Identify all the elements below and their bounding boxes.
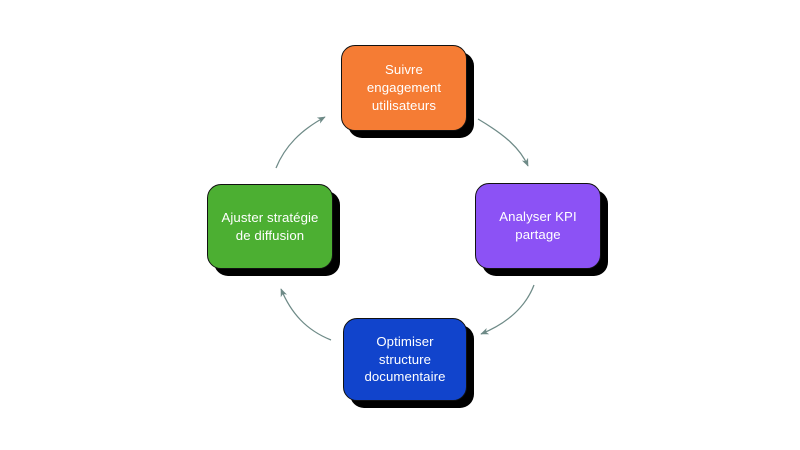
node-ajuster-strategie-de-diffusion[interactable]: Ajuster stratégie de diffusion xyxy=(207,184,333,269)
node-label: Suivre engagement utilisateurs xyxy=(367,61,441,115)
node-analyser-kpi-partage[interactable]: Analyser KPI partage xyxy=(475,183,601,269)
node-label: Analyser KPI partage xyxy=(499,208,576,244)
node-label: Ajuster stratégie de diffusion xyxy=(222,209,319,245)
arrow-left-to-top xyxy=(276,117,325,168)
node-suivre-engagement-utilisateurs[interactable]: Suivre engagement utilisateurs xyxy=(341,45,467,131)
arrow-top-to-right xyxy=(478,119,528,166)
diagram-canvas: Suivre engagement utilisateurs Analyser … xyxy=(0,0,800,450)
node-optimiser-structure-documentaire[interactable]: Optimiser structure documentaire xyxy=(343,318,467,401)
arrow-right-to-bottom xyxy=(481,285,534,334)
node-label: Optimiser structure documentaire xyxy=(364,333,445,387)
arrow-bottom-to-left xyxy=(281,289,331,340)
